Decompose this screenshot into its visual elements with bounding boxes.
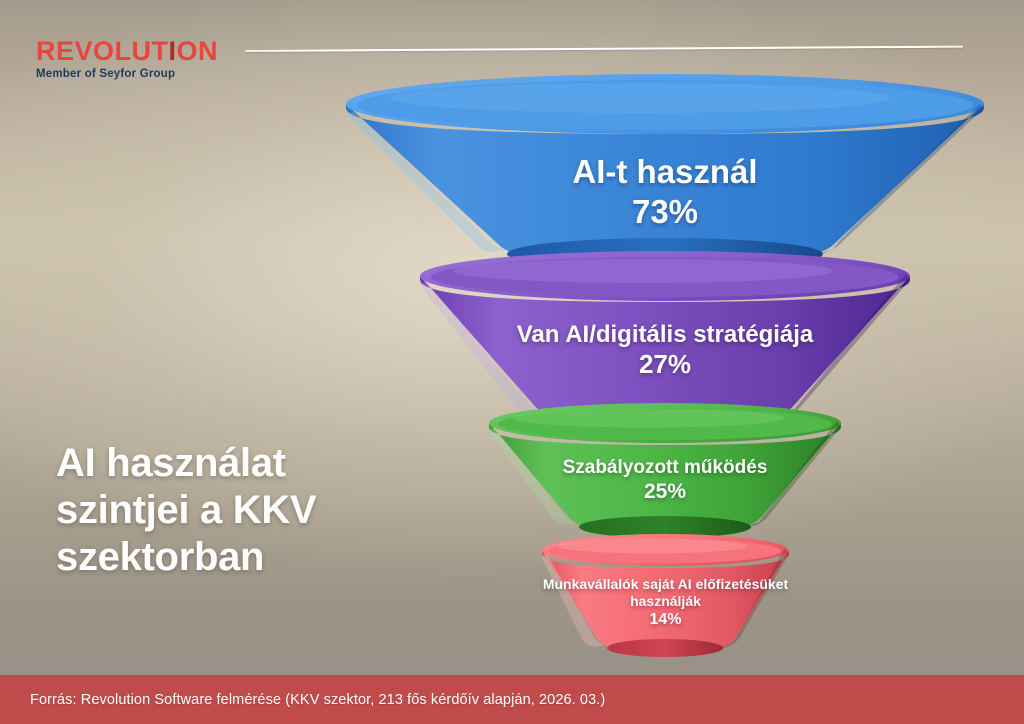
logo-wordmark-part1: REVOLUT — [36, 36, 169, 66]
funnel-stage-3-shape — [485, 403, 845, 548]
source-text: Forrás: Revolution Software felmérése (K… — [0, 692, 605, 708]
funnel-chart: AI-t használ 73% — [340, 78, 990, 668]
logo-wordmark-part2: I — [169, 36, 177, 66]
source-bar: Forrás: Revolution Software felmérése (K… — [0, 675, 1024, 724]
logo-wordmark: REVOLUTION — [36, 38, 218, 65]
brand-logo[interactable]: REVOLUTION Member of Seyfor Group — [36, 38, 218, 80]
funnel-stage-4-shape — [538, 533, 793, 665]
infographic-page: { "brand": { "logo_part1": "REVOLUT", "l… — [0, 0, 1024, 724]
funnel-stage-1-shape — [340, 78, 990, 273]
page-title: AI használat szintjei a KKV szektorban — [56, 440, 386, 582]
funnel-stage-3[interactable]: Szabályozott működés 25% — [485, 403, 845, 543]
funnel-stage-4[interactable]: Munkavállalók saját AI előfizetésüket ha… — [538, 533, 793, 663]
logo-tagline: Member of Seyfor Group — [36, 68, 218, 80]
logo-wordmark-part3: ON — [177, 36, 219, 66]
funnel-stage-1[interactable]: AI-t használ 73% — [340, 78, 990, 268]
header-divider-line — [245, 46, 963, 52]
